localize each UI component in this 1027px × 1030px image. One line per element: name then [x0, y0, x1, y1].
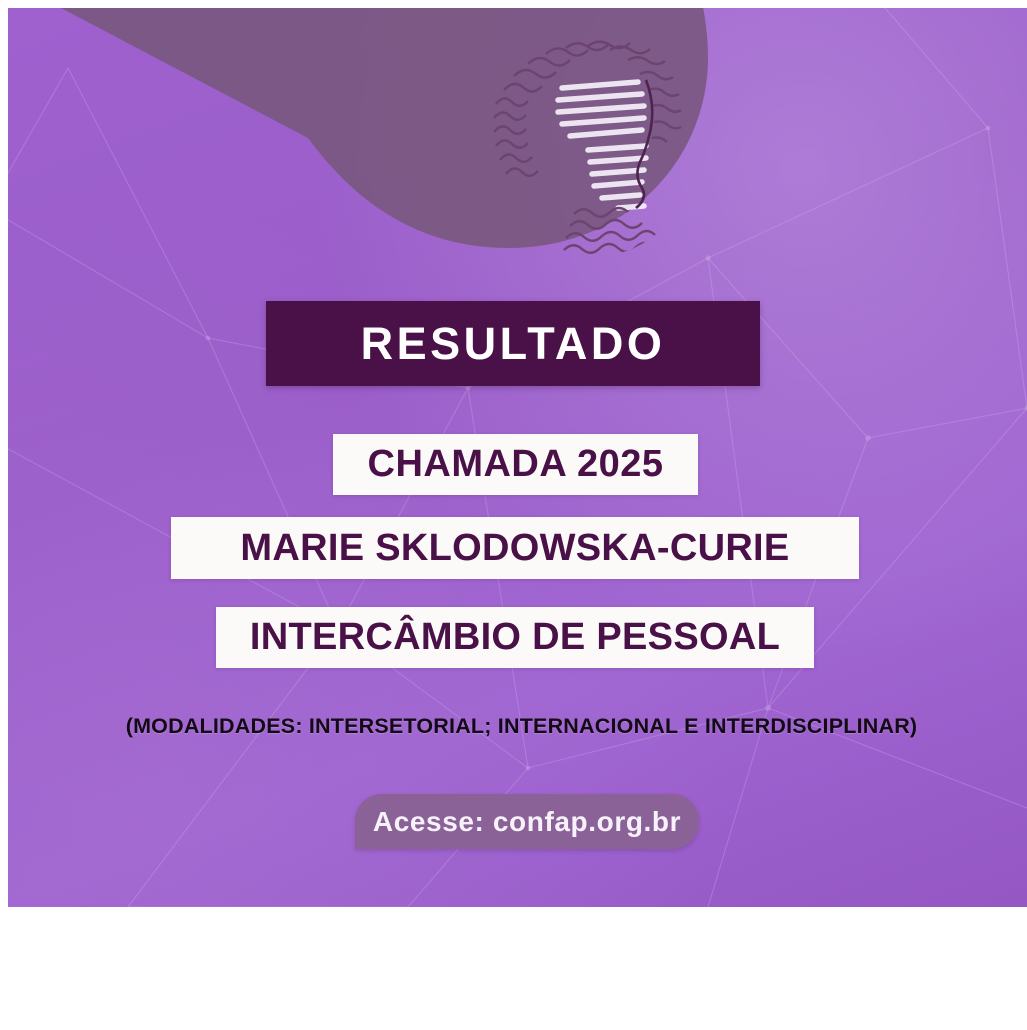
- access-url-pill[interactable]: Acesse: confap.org.br: [355, 794, 699, 849]
- footer-logo-bar: FACEPE Fundação de Amparo à Ciência e Te…: [0, 907, 1027, 1030]
- hero-panel: RESULTADO CHAMADA 2025 MARIE SKLODOWSKA-…: [8, 8, 1027, 907]
- modalities-subtitle: (MODALIDADES: INTERSETORIAL; INTERNACION…: [8, 714, 1027, 739]
- headline-chamada: CHAMADA 2025: [333, 434, 698, 495]
- marie-curie-portrait-icon: [478, 8, 698, 258]
- headline-marie-sklodowska-curie: MARIE SKLODOWSKA-CURIE: [171, 517, 859, 579]
- headline-marie-label: MARIE SKLODOWSKA-CURIE: [240, 527, 789, 570]
- headline-intercambio-de-pessoal: INTERCÂMBIO DE PESSOAL: [216, 607, 814, 668]
- headline-intercambio-label: INTERCÂMBIO DE PESSOAL: [250, 616, 780, 659]
- headline-chamada-label: CHAMADA 2025: [368, 443, 664, 486]
- banner-resultado-label: RESULTADO: [361, 318, 666, 370]
- banner-resultado: RESULTADO: [266, 301, 760, 386]
- access-url-label: Acesse: confap.org.br: [373, 806, 681, 838]
- poster-canvas: RESULTADO CHAMADA 2025 MARIE SKLODOWSKA-…: [0, 0, 1027, 1030]
